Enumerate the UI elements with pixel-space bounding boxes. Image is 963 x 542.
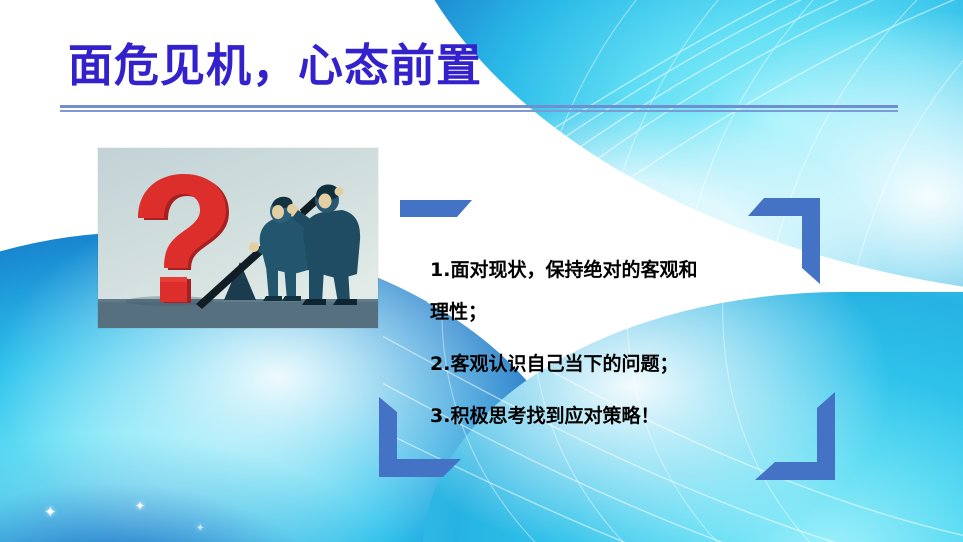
sparkle-icon: ✦ [196, 524, 204, 534]
body-text-block: 1.面对现状，保持绝对的客观和 理性； 2.客观认识自己当下的问题； 3.积极思… [430, 249, 770, 437]
body-line-3: 3.积极思考找到应对策略！ [430, 395, 770, 437]
body-spacer [430, 333, 770, 343]
divider-line-thin [60, 110, 898, 112]
bottom-left-deep-wave [0, 392, 400, 542]
illustration-artwork [98, 148, 378, 328]
bracket-top-left [400, 200, 472, 218]
lever-question-mark-illustration [98, 148, 378, 328]
slide-title: 面危见机，心态前置 [68, 29, 482, 94]
sparkle-icon: ✦ [44, 505, 57, 520]
body-spacer [430, 385, 770, 395]
body-line-2: 2.客观认识自己当下的问题； [430, 343, 770, 385]
sparkle-icon: ✦ [135, 500, 145, 512]
body-line-1a: 1.面对现状，保持绝对的客观和 [430, 249, 770, 291]
divider-line-thick [60, 105, 898, 108]
slide-canvas: ✦ ✦ ✦ 面危见机，心态前置 [0, 0, 963, 542]
title-divider-rule [60, 105, 898, 112]
body-line-1b: 理性； [430, 291, 770, 333]
